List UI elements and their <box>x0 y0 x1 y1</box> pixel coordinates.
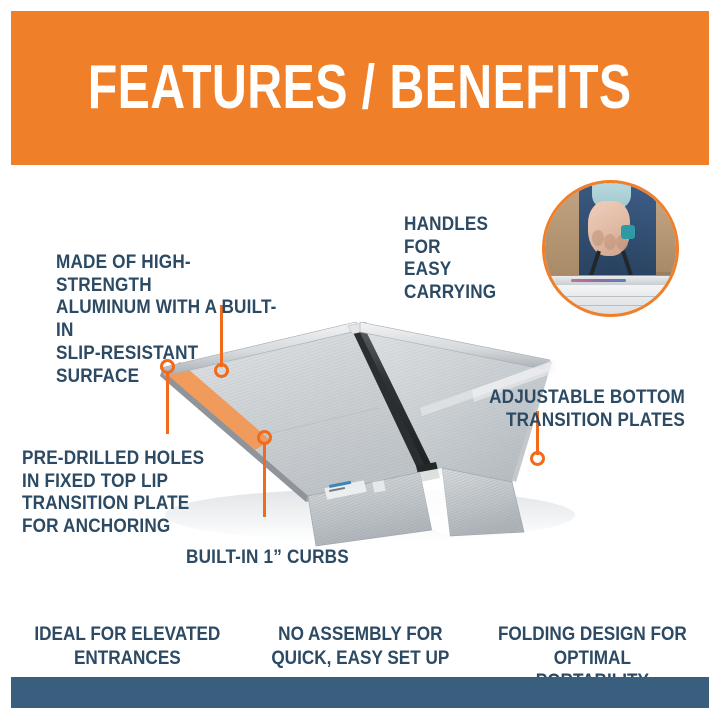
callout-adjustable-transition-plates: ADJUSTABLE BOTTOM TRANSITION PLATES <box>460 363 685 454</box>
callout-material: MADE OF HIGH-STRENGTH ALUMINUM WITH A BU… <box>56 228 316 411</box>
callout-built-in-curbs: BUILT-IN 1” CURBS <box>186 523 416 591</box>
bottom-benefit-1: IDEAL FOR ELEVATED ENTRANCES <box>11 600 244 662</box>
callout-adjustable-transition-plates-text: ADJUSTABLE BOTTOM TRANSITION PLATES <box>487 386 685 432</box>
handle-photo-image <box>545 183 676 314</box>
callout-built-in-curbs-text: BUILT-IN 1” CURBS <box>186 546 388 569</box>
callout-handles: HANDLES FOR EASY CARRYING <box>404 190 544 327</box>
pin-ring <box>257 430 272 445</box>
header-bar: FEATURES / BENEFITS <box>11 11 709 165</box>
bottom-benefits-row: IDEAL FOR ELEVATED ENTRANCES NO ASSEMBLY… <box>11 600 709 662</box>
page-title: FEATURES / BENEFITS <box>88 57 632 119</box>
bottom-benefit-3: FOLDING DESIGN FOR OPTIMAL PORTABILITY <box>476 600 709 662</box>
handle-photo-inset <box>542 180 679 317</box>
callout-material-text: MADE OF HIGH-STRENGTH ALUMINUM WITH A BU… <box>56 251 285 388</box>
infographic-page: FEATURES / BENEFITS <box>0 0 720 720</box>
footer-bar <box>11 677 709 708</box>
callout-handles-text: HANDLES FOR EASY CARRYING <box>404 213 527 304</box>
bottom-benefit-2-text: NO ASSEMBLY FOR QUICK, EASY SET UP <box>263 623 457 670</box>
bottom-benefit-1-text: IDEAL FOR ELEVATED ENTRANCES <box>30 623 224 670</box>
pin-stem <box>263 443 266 517</box>
bottom-benefit-2: NO ASSEMBLY FOR QUICK, EASY SET UP <box>244 600 477 662</box>
